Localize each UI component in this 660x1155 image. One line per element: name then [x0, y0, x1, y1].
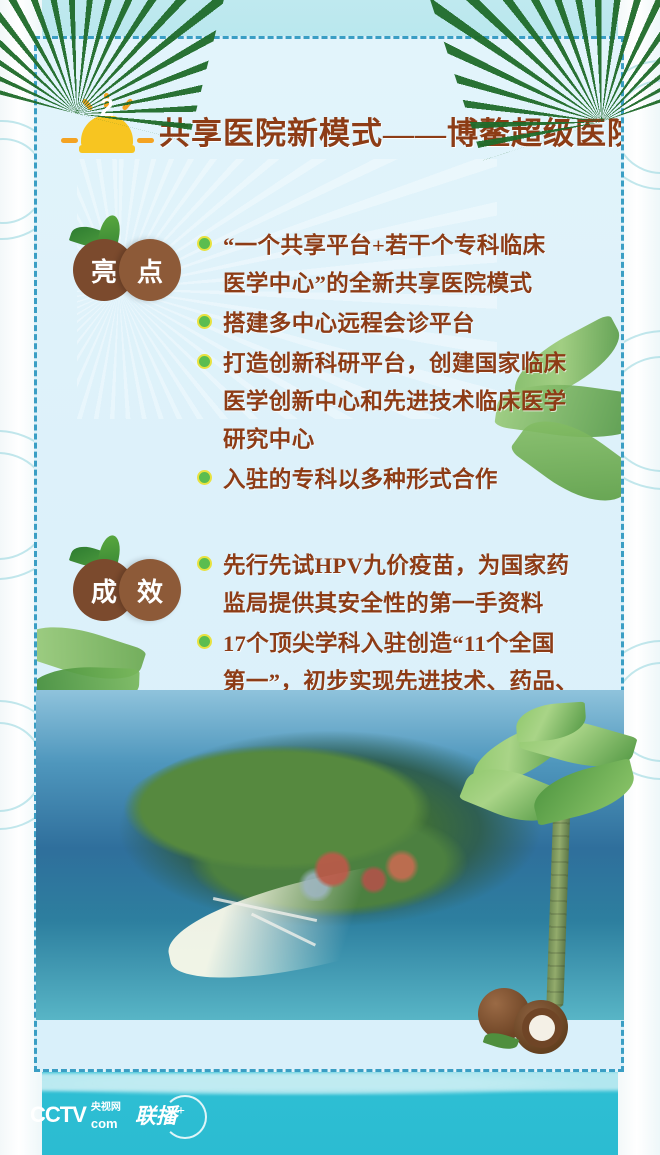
list-item: 先行先试HPV九价疫苗，为国家药 监局提供其安全性的第一手资料 [197, 547, 603, 623]
list-item-text: “一个共享平台+若干个专科临床 医学中心”的全新共享医院模式 [223, 227, 546, 303]
section-number: 2 [59, 96, 155, 121]
lianbo-text: 联播 [135, 1104, 177, 1128]
island-aerial-photo [36, 690, 624, 1020]
lianbo-plus-sign: + [177, 1104, 185, 1119]
badge-char-right: 点 [119, 239, 181, 301]
section-highlights: 亮 点 “一个共享平台+若干个专科临床 医学中心”的全新共享医院模式 [37, 217, 621, 501]
poster-root: 2 共享医院新模式——博鳌超级医院 亮 点 [0, 0, 660, 1155]
bullet-list-highlights: “一个共享平台+若干个专科临床 医学中心”的全新共享医院模式 搭建多中心远程会诊… [197, 217, 621, 501]
island-resort-buildings [283, 848, 448, 901]
right-margin-pattern [618, 0, 660, 1155]
page-title: 共享医院新模式——博鳌超级医院 [159, 108, 624, 153]
cctv-logo: CCTV 央视网 com [30, 1097, 121, 1133]
cctv-wordmark: CCTV [30, 1102, 86, 1128]
bullet-dot-icon [197, 236, 212, 251]
lianbo-plus-logo: 联播+ [135, 1100, 197, 1130]
header: 2 共享医院新模式——博鳌超级医院 [37, 85, 621, 175]
bullet-dot-icon [197, 634, 212, 649]
foam-band-lower [0, 1069, 660, 1095]
cctv-chinese-name: 央视网 [91, 1102, 121, 1113]
bullet-dot-icon [197, 354, 212, 369]
bullet-dot-icon [197, 314, 212, 329]
badge-char-right: 效 [119, 559, 181, 621]
list-item: 打造创新科研平台，创建国家临床 医学创新中心和先进技术临床医学 研究中心 [197, 345, 603, 459]
list-item-text: 搭建多中心远程会诊平台 [223, 305, 475, 343]
cctv-com-text: com [91, 1116, 118, 1131]
coconut-halved-icon [522, 1008, 562, 1048]
coconut-icon-group [478, 984, 598, 1058]
list-item: 搭建多中心远程会诊平台 [197, 305, 603, 343]
list-item-text: 先行先试HPV九价疫苗，为国家药 监局提供其安全性的第一手资料 [223, 547, 569, 623]
badge-highlights: 亮 点 [61, 217, 197, 501]
list-item-text: 打造创新科研平台，创建国家临床 医学创新中心和先进技术临床医学 研究中心 [223, 345, 567, 459]
bullet-dot-icon [197, 556, 212, 571]
list-item: 入驻的专科以多种形式合作 [197, 461, 603, 499]
footer-logos: CCTV 央视网 com 联播+ [30, 1097, 197, 1133]
list-item-text: 入驻的专科以多种形式合作 [223, 461, 498, 499]
bullet-dot-icon [197, 470, 212, 485]
list-item: “一个共享平台+若干个专科临床 医学中心”的全新共享医院模式 [197, 227, 603, 303]
sun-icon: 2 [59, 93, 155, 167]
